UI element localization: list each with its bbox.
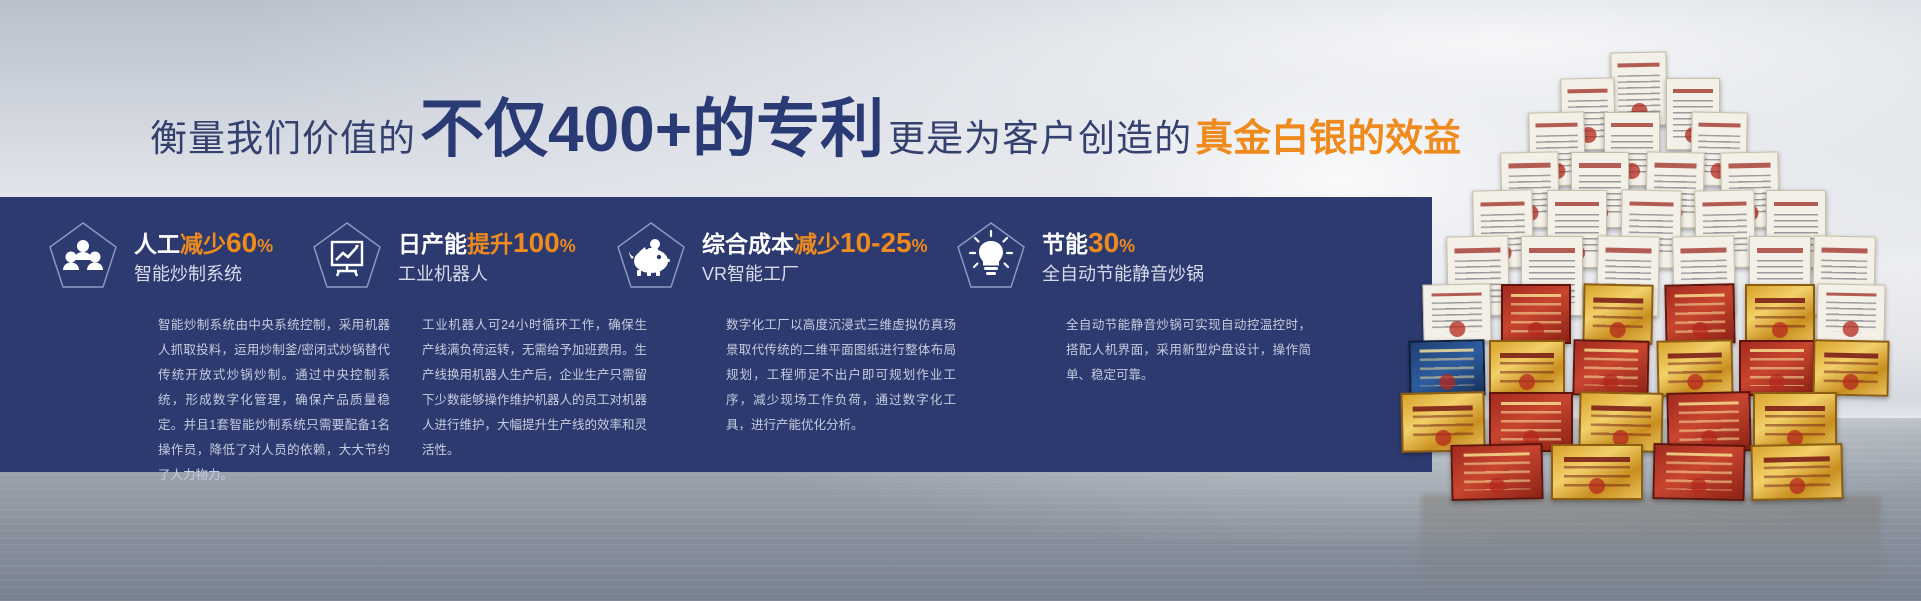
feature-title-number: 60 <box>226 227 257 258</box>
lightbulb-icon <box>954 219 1028 293</box>
headline-middle: 更是为客户创造的 <box>888 108 1192 162</box>
piggy-bank-icon <box>614 219 688 293</box>
feature-subtitle: 智能炒制系统 <box>134 264 273 285</box>
certificate-seal <box>1519 374 1535 390</box>
feature-header: 日产能提升100% 工业机器人 <box>310 225 650 287</box>
certificate-item <box>1812 339 1889 397</box>
certificate-item <box>1582 283 1653 344</box>
people-group-icon <box>46 219 120 293</box>
headline-lead: 衡量我们价值的 <box>150 108 416 162</box>
certificate-seal <box>1772 322 1788 338</box>
certificate-reflection <box>1421 495 1881 590</box>
certificate-seal <box>1843 374 1859 390</box>
feature-title: 综合成本减少10-25% <box>702 227 928 258</box>
feature-heading-text: 日产能提升100% 工业机器人 <box>398 227 576 284</box>
certificate-seal <box>1769 374 1785 390</box>
feature-subtitle: VR智能工厂 <box>702 264 928 285</box>
headline: 衡量我们价值的 不仅400+的专利 更是为客户创造的 真金白银的效益 <box>150 78 1461 152</box>
certificate-seal <box>1528 322 1544 338</box>
feature-title-number: 100 <box>513 227 560 258</box>
feature-body-text: 数字化工厂以高度沉浸式三维虚拟仿真场景取代传统的二维平面图纸进行整体布局规划，工… <box>726 313 956 438</box>
chart-presentation-icon <box>310 219 384 293</box>
feature-column-cost: 综合成本减少10-25% VR智能工厂 数字化工厂以高度沉浸式三维虚拟仿真场景取… <box>650 197 990 472</box>
feature-column-capacity: 日产能提升100% 工业机器人 工业机器人可24小时循环工作，确保生产线满负荷运… <box>330 197 650 472</box>
feature-title: 节能30% <box>1042 227 1204 258</box>
feature-title-unit: % <box>1119 236 1135 256</box>
certificate-seal <box>1610 321 1626 337</box>
certificate-item <box>1739 340 1815 396</box>
certificate-item <box>1422 283 1491 342</box>
certificate-item <box>1816 283 1885 342</box>
feature-title-unit: % <box>257 236 273 256</box>
feature-title-accent: 减少 <box>180 231 226 257</box>
feature-header: 综合成本减少10-25% VR智能工厂 <box>614 225 990 287</box>
feature-header: 节能30% 全自动节能静音炒锅 <box>954 225 1370 287</box>
certificate-item <box>1408 339 1485 397</box>
certificate-item <box>1652 443 1745 501</box>
certificate-item <box>1489 340 1565 396</box>
certificate-seal <box>1691 478 1707 494</box>
feature-column-energy: 节能30% 全自动节能静音炒锅 全自动节能静音炒锅可实现自动控温控时，搭配人机界… <box>990 197 1370 472</box>
headline-strong: 不仅400+的专利 <box>420 78 884 170</box>
certificate-seal <box>1435 429 1451 445</box>
certificate-seal <box>1449 320 1465 336</box>
certificate-item <box>1750 443 1843 501</box>
feature-title-unit: % <box>912 236 928 256</box>
feature-heading-text: 综合成本减少10-25% VR智能工厂 <box>702 227 928 284</box>
feature-body-text: 工业机器人可24小时循环工作，确保生产线满负荷运转，无需给予加班费用。生产线换用… <box>422 313 647 463</box>
certificate-seal <box>1789 478 1805 494</box>
feature-title-accent: 减少 <box>794 231 840 257</box>
certificate-seal <box>1589 478 1605 494</box>
certificate-seal <box>1603 374 1619 390</box>
feature-title-unit: % <box>560 236 576 256</box>
feature-title: 日产能提升100% <box>398 227 576 258</box>
certificate-item <box>1664 283 1735 344</box>
feature-body-text: 全自动节能静音炒锅可实现自动控温控时，搭配人机界面，采用新型炉盘设计，操作简单、… <box>1066 313 1311 388</box>
feature-subtitle: 全自动节能静音炒锅 <box>1042 264 1204 285</box>
certificate-item <box>1572 339 1649 397</box>
certificate-item <box>1551 444 1643 500</box>
feature-columns: 人工减少60% 智能炒制系统 智能炒制系统由中央系统控制，采用机器人抓取投料，运… <box>0 197 1432 472</box>
certificate-item <box>1501 284 1571 344</box>
certificate-seal <box>1843 320 1859 336</box>
feature-title-pre: 人工 <box>134 231 180 257</box>
certificate-seal <box>1439 374 1455 390</box>
feature-subtitle: 工业机器人 <box>398 264 576 285</box>
certificate-wall <box>1361 40 1921 560</box>
feature-header: 人工减少60% 智能炒制系统 <box>46 225 330 287</box>
promo-banner: 衡量我们价值的 不仅400+的专利 更是为客户创造的 真金白银的效益 <box>0 0 1921 601</box>
feature-title-number: 10-25 <box>840 227 912 258</box>
feature-heading-text: 人工减少60% 智能炒制系统 <box>134 227 273 284</box>
feature-title-pre: 综合成本 <box>702 231 794 257</box>
feature-title-pre: 节能 <box>1042 231 1088 257</box>
certificate-item <box>1745 284 1815 344</box>
feature-title-number: 30 <box>1088 227 1119 258</box>
feature-title-accent: 提升 <box>467 231 513 257</box>
feature-panel: 人工减少60% 智能炒制系统 智能炒制系统由中央系统控制，采用机器人抓取投料，运… <box>0 197 1432 472</box>
certificate-seal <box>1687 374 1703 390</box>
feature-heading-text: 节能30% 全自动节能静音炒锅 <box>1042 227 1204 284</box>
certificate-seal <box>1692 321 1708 337</box>
feature-title: 人工减少60% <box>134 227 273 258</box>
certificate-seal <box>1489 478 1505 494</box>
certificate-item <box>1450 443 1543 501</box>
feature-column-labor: 人工减少60% 智能炒制系统 智能炒制系统由中央系统控制，采用机器人抓取投料，运… <box>0 197 330 472</box>
certificate-item <box>1656 339 1733 397</box>
feature-title-pre: 日产能 <box>398 231 467 257</box>
